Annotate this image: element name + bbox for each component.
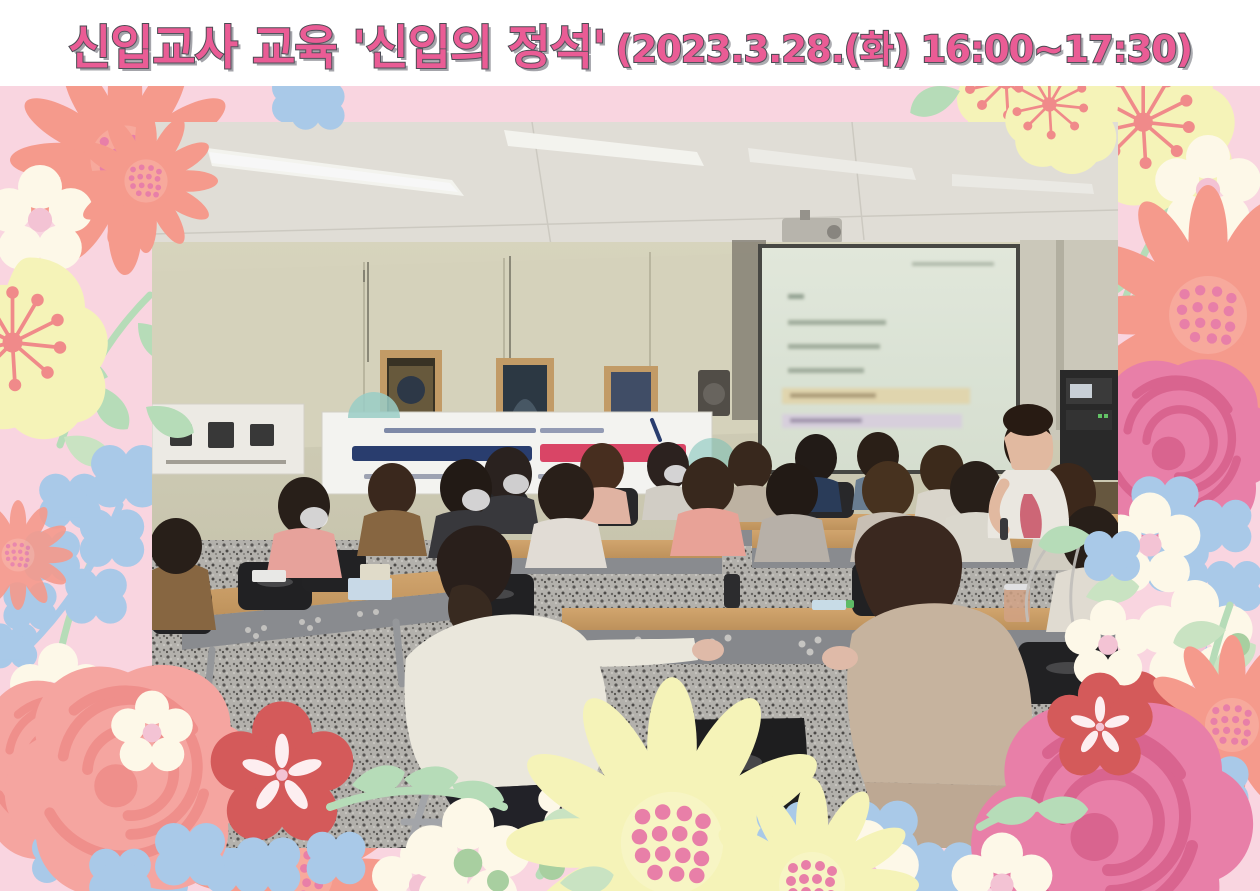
- header-band: 신입교사 교육 '신입의 정석' (2023.3.28.(화) 16:00~17…: [0, 0, 1260, 86]
- page-title: 신입교사 교육 '신입의 정석': [68, 9, 606, 78]
- photo-content: [152, 122, 1118, 848]
- page-title-date: (2023.3.28.(화) 16:00~17:30): [616, 19, 1193, 73]
- title-row: 신입교사 교육 '신입의 정석' (2023.3.28.(화) 16:00~17…: [0, 0, 1260, 86]
- poster-root: 신입교사 교육 '신입의 정석' (2023.3.28.(화) 16:00~17…: [0, 0, 1260, 891]
- training-session-photograph: [152, 122, 1118, 848]
